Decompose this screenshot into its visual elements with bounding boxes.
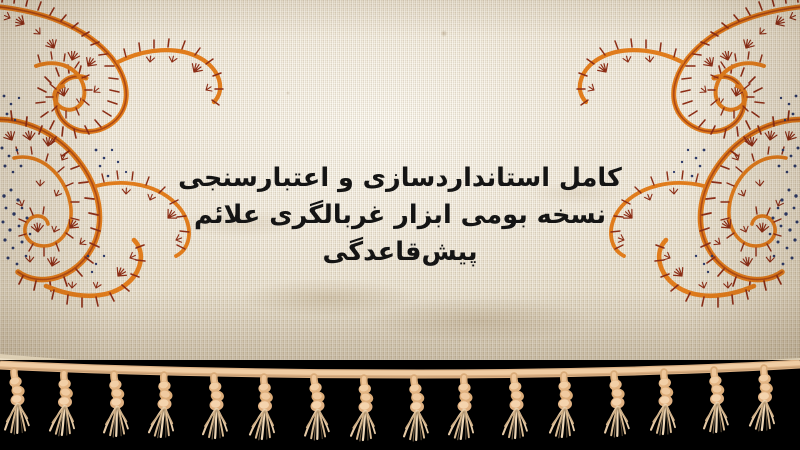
title-line-2: نسخه بومی ابزار غربالگری علائم: [0, 197, 800, 234]
slide-title: کامل استانداردسازی و اعتبارسنجی نسخه بوم…: [0, 160, 800, 271]
title-line-1: کامل استانداردسازی و اعتبارسنجی: [0, 160, 800, 197]
tassel-fringe: [0, 360, 800, 450]
slide-canvas: کامل استانداردسازی و اعتبارسنجی نسخه بوم…: [0, 0, 800, 450]
title-line-3: پیش‌قاعدگی: [0, 234, 800, 271]
